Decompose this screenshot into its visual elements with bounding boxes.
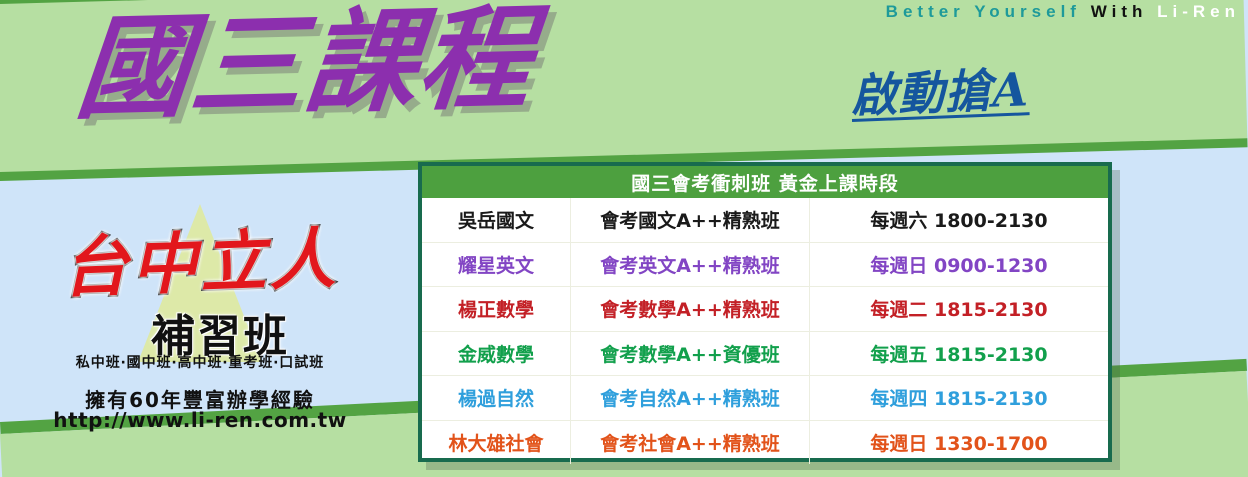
table-cell-time: 每週六 1800-2130 [810,198,1108,242]
tagline: Better Yourself With Li-Ren [886,2,1240,22]
table-cell-teacher: 耀星英文 [422,243,571,287]
table-cell-teacher: 楊正數學 [422,287,571,331]
table-row: 楊正數學會考數學A++精熟班每週二 1815-2130 [422,287,1108,332]
schedule-table-body: 吳岳國文會考國文A++精熟班每週六 1800-2130耀星英文會考英文A++精熟… [422,198,1108,464]
table-cell-teacher: 楊過自然 [422,376,571,420]
table-cell-time: 每週日 1330-1700 [810,421,1108,465]
school-logo: 台中立人 補習班 私中班‧國中班‧高中班‧重考班‧口試班 擁有60年豐富辦學經驗… [20,196,380,426]
tagline-part-2: With [1091,2,1148,21]
table-cell-time: 每週四 1815-2130 [810,376,1108,420]
tagline-part-1: Better Yourself [886,2,1081,21]
table-cell-course: 會考社會A++精熟班 [571,421,810,465]
logo-class-list: 私中班‧國中班‧高中班‧重考班‧口試班 [20,352,380,372]
table-row: 吳岳國文會考國文A++精熟班每週六 1800-2130 [422,198,1108,243]
table-row: 金威數學會考數學A++資優班每週五 1815-2130 [422,332,1108,377]
table-cell-time: 每週五 1815-2130 [810,332,1108,376]
logo-school-name: 台中立人 [18,204,381,313]
table-cell-teacher: 林大雄社會 [422,421,571,465]
table-cell-course: 會考英文A++精熟班 [571,243,810,287]
page-subtitle: 啟動搶A [850,65,1029,120]
tagline-part-3: Li-Ren [1157,2,1240,21]
logo-website-url[interactable]: http://www.li-ren.com.tw [20,408,380,432]
table-row: 耀星英文會考英文A++精熟班每週日 0900-1230 [422,243,1108,288]
table-cell-teacher: 吳岳國文 [422,198,571,242]
table-row: 楊過自然會考自然A++精熟班每週四 1815-2130 [422,376,1108,421]
schedule-table: 國三會考衝刺班 黃金上課時段 吳岳國文會考國文A++精熟班每週六 1800-21… [418,162,1112,462]
table-row: 林大雄社會會考社會A++精熟班每週日 1330-1700 [422,421,1108,465]
table-cell-course: 會考國文A++精熟班 [571,198,810,242]
table-cell-course: 會考自然A++精熟班 [571,376,810,420]
table-cell-course: 會考數學A++資優班 [571,332,810,376]
table-cell-teacher: 金威數學 [422,332,571,376]
page-title: 國三課程 [72,3,539,126]
table-cell-course: 會考數學A++精熟班 [571,287,810,331]
poster-canvas: Better Yourself With Li-Ren 國三課程 啟動搶A 台中… [0,0,1248,477]
schedule-table-header: 國三會考衝刺班 黃金上課時段 [422,166,1108,198]
table-cell-time: 每週二 1815-2130 [810,287,1108,331]
table-cell-time: 每週日 0900-1230 [810,243,1108,287]
